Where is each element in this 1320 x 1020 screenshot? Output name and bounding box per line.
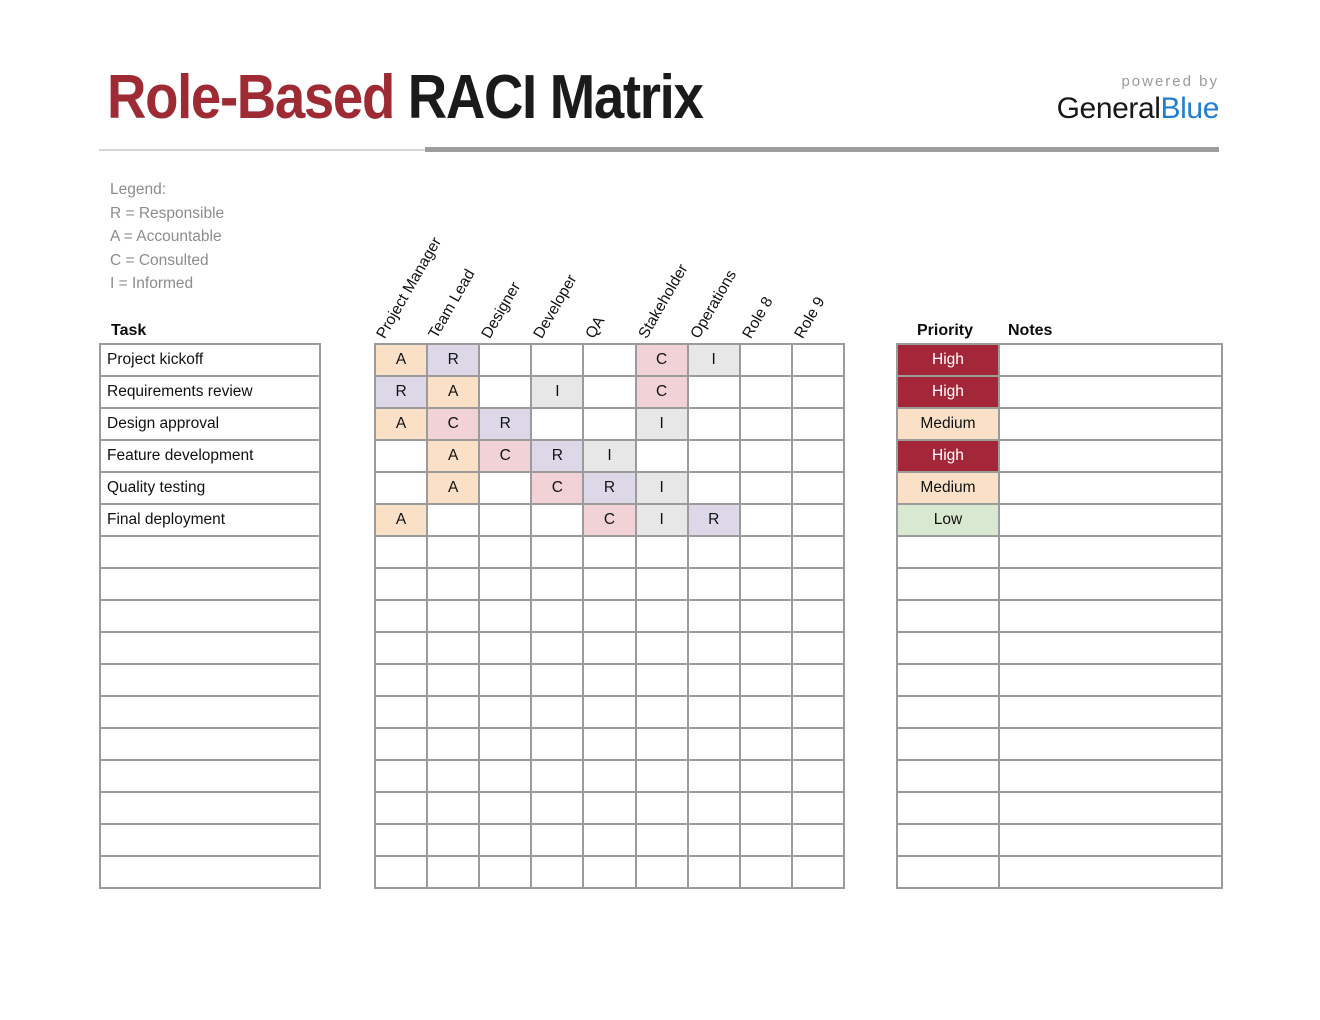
role-header-designer: Designer xyxy=(478,279,525,342)
table-row: Requirements review xyxy=(100,376,320,408)
raci-cell[interactable] xyxy=(531,696,583,728)
raci-cell[interactable] xyxy=(531,536,583,568)
raci-cell[interactable] xyxy=(688,760,740,792)
priority-cell[interactable] xyxy=(897,536,999,568)
raci-cell[interactable]: C xyxy=(636,376,688,408)
table-row: Medium xyxy=(897,472,1222,504)
raci-cell[interactable] xyxy=(479,760,531,792)
notes-cell[interactable] xyxy=(999,344,1222,376)
table-row xyxy=(375,664,844,696)
raci-cell[interactable] xyxy=(531,344,583,376)
raci-cell[interactable] xyxy=(636,536,688,568)
raci-cell[interactable] xyxy=(688,792,740,824)
table-row xyxy=(375,632,844,664)
raci-cell[interactable] xyxy=(427,792,479,824)
table-row xyxy=(897,696,1222,728)
priority-cell[interactable] xyxy=(897,632,999,664)
raci-cell[interactable] xyxy=(479,856,531,888)
table-row: Project kickoff xyxy=(100,344,320,376)
raci-matrix-table: ARCIRAICACRIACRIACRIACIR xyxy=(374,343,845,889)
priority-cell[interactable]: Medium xyxy=(897,408,999,440)
wordmark-general: General xyxy=(1057,92,1161,125)
raci-cell[interactable] xyxy=(740,856,792,888)
wordmark-blue: Blue xyxy=(1161,92,1219,125)
raci-cell[interactable] xyxy=(583,792,635,824)
raci-cell[interactable] xyxy=(740,344,792,376)
raci-cell[interactable] xyxy=(375,472,427,504)
raci-cell[interactable] xyxy=(636,760,688,792)
raci-cell[interactable] xyxy=(792,728,844,760)
raci-cell[interactable] xyxy=(792,760,844,792)
raci-cell[interactable] xyxy=(740,408,792,440)
raci-cell[interactable] xyxy=(740,504,792,536)
table-row xyxy=(897,568,1222,600)
raci-cell[interactable]: A xyxy=(427,376,479,408)
raci-cell[interactable] xyxy=(792,664,844,696)
page-title-accent: Role-Based xyxy=(107,63,394,132)
legend-item-consulted: C = Consulted xyxy=(110,249,224,273)
raci-cell[interactable] xyxy=(427,760,479,792)
raci-cell[interactable] xyxy=(427,504,479,536)
task-cell[interactable] xyxy=(100,824,320,856)
raci-cell[interactable] xyxy=(479,472,531,504)
raci-cell[interactable] xyxy=(375,824,427,856)
table-row: Low xyxy=(897,504,1222,536)
raci-cell[interactable] xyxy=(688,440,740,472)
table-row: High xyxy=(897,376,1222,408)
powered-by-label: powered by xyxy=(1057,74,1219,90)
raci-cell[interactable] xyxy=(531,760,583,792)
raci-cell[interactable]: A xyxy=(375,344,427,376)
raci-cell[interactable] xyxy=(740,824,792,856)
priority-cell[interactable] xyxy=(897,696,999,728)
table-row xyxy=(375,728,844,760)
raci-cell[interactable] xyxy=(740,568,792,600)
role-header-team-lead: Team Lead xyxy=(426,267,480,342)
raci-cell[interactable] xyxy=(740,376,792,408)
raci-cell[interactable] xyxy=(688,376,740,408)
raci-cell[interactable]: R xyxy=(479,408,531,440)
table-row: ACRI xyxy=(375,440,844,472)
raci-cell[interactable] xyxy=(636,696,688,728)
priority-cell[interactable] xyxy=(897,728,999,760)
raci-cell[interactable] xyxy=(636,664,688,696)
task-cell[interactable]: Requirements review xyxy=(100,376,320,408)
table-row xyxy=(375,600,844,632)
notes-cell[interactable] xyxy=(999,600,1222,632)
raci-cell[interactable] xyxy=(792,504,844,536)
task-cell[interactable] xyxy=(100,664,320,696)
raci-cell[interactable]: C xyxy=(427,408,479,440)
raci-cell[interactable] xyxy=(427,664,479,696)
raci-cell[interactable] xyxy=(792,568,844,600)
raci-cell[interactable]: I xyxy=(531,376,583,408)
priority-cell[interactable] xyxy=(897,824,999,856)
legend-item-accountable: A = Accountable xyxy=(110,225,224,249)
raci-cell[interactable]: C xyxy=(636,344,688,376)
task-table: Project kickoffRequirements reviewDesign… xyxy=(99,343,321,889)
raci-cell[interactable] xyxy=(375,696,427,728)
priority-cell[interactable] xyxy=(897,600,999,632)
raci-cell[interactable] xyxy=(479,504,531,536)
raci-cell[interactable]: R xyxy=(583,472,635,504)
table-row xyxy=(100,824,320,856)
raci-cell[interactable] xyxy=(427,632,479,664)
raci-cell[interactable] xyxy=(531,408,583,440)
table-row xyxy=(897,536,1222,568)
table-row: ACIR xyxy=(375,504,844,536)
raci-cell[interactable] xyxy=(636,568,688,600)
raci-cell[interactable] xyxy=(427,568,479,600)
priority-cell[interactable] xyxy=(897,760,999,792)
raci-cell[interactable] xyxy=(636,600,688,632)
raci-cell[interactable] xyxy=(479,376,531,408)
raci-cell[interactable] xyxy=(583,728,635,760)
raci-cell[interactable] xyxy=(583,344,635,376)
raci-cell[interactable] xyxy=(636,728,688,760)
task-cell[interactable]: Project kickoff xyxy=(100,344,320,376)
raci-cell[interactable] xyxy=(531,568,583,600)
raci-cell[interactable] xyxy=(740,696,792,728)
raci-cell[interactable] xyxy=(375,440,427,472)
table-row xyxy=(100,600,320,632)
table-row: Design approval xyxy=(100,408,320,440)
raci-cell[interactable] xyxy=(479,344,531,376)
table-row xyxy=(100,696,320,728)
raci-cell[interactable] xyxy=(740,472,792,504)
role-header-operations: Operations xyxy=(687,267,741,342)
raci-cell[interactable] xyxy=(792,440,844,472)
task-cell[interactable]: Design approval xyxy=(100,408,320,440)
notes-cell[interactable] xyxy=(999,536,1222,568)
raci-cell[interactable] xyxy=(688,632,740,664)
role-header-stakeholder: Stakeholder xyxy=(635,261,692,342)
raci-cell[interactable] xyxy=(427,856,479,888)
raci-cell[interactable] xyxy=(479,728,531,760)
raci-cell[interactable] xyxy=(531,632,583,664)
raci-cell[interactable] xyxy=(375,664,427,696)
priority-cell[interactable]: Low xyxy=(897,504,999,536)
raci-cell[interactable]: I xyxy=(583,440,635,472)
raci-cell[interactable] xyxy=(688,664,740,696)
table-row: ACRI xyxy=(375,408,844,440)
notes-cell[interactable] xyxy=(999,856,1222,888)
notes-cell[interactable] xyxy=(999,696,1222,728)
table-row xyxy=(375,696,844,728)
raci-cell[interactable]: R xyxy=(375,376,427,408)
generalblue-wordmark: GeneralBlue xyxy=(1057,93,1219,125)
raci-cell[interactable] xyxy=(479,536,531,568)
table-row xyxy=(100,568,320,600)
task-cell[interactable] xyxy=(100,696,320,728)
raci-cell[interactable] xyxy=(427,536,479,568)
notes-cell[interactable] xyxy=(999,792,1222,824)
raci-cell[interactable] xyxy=(375,792,427,824)
raci-cell[interactable] xyxy=(375,856,427,888)
table-row xyxy=(897,760,1222,792)
table-row xyxy=(897,824,1222,856)
raci-cell[interactable] xyxy=(531,824,583,856)
priority-cell[interactable]: High xyxy=(897,344,999,376)
legend: Legend: R = Responsible A = Accountable … xyxy=(110,178,224,296)
task-cell[interactable] xyxy=(100,760,320,792)
raci-cell[interactable] xyxy=(688,728,740,760)
table-row xyxy=(100,792,320,824)
header-divider-left xyxy=(99,149,425,151)
legend-item-responsible: R = Responsible xyxy=(110,202,224,226)
raci-cell[interactable] xyxy=(427,728,479,760)
raci-cell[interactable]: A xyxy=(375,504,427,536)
raci-cell[interactable] xyxy=(583,536,635,568)
raci-cell[interactable] xyxy=(479,632,531,664)
raci-cell[interactable]: I xyxy=(636,408,688,440)
raci-cell[interactable] xyxy=(583,760,635,792)
notes-cell[interactable] xyxy=(999,664,1222,696)
raci-cell[interactable] xyxy=(792,376,844,408)
raci-cell[interactable] xyxy=(375,568,427,600)
raci-cell[interactable] xyxy=(375,632,427,664)
raci-cell[interactable] xyxy=(531,664,583,696)
table-row: Quality testing xyxy=(100,472,320,504)
table-row xyxy=(897,792,1222,824)
notes-cell[interactable] xyxy=(999,408,1222,440)
table-row: High xyxy=(897,440,1222,472)
priority-cell[interactable] xyxy=(897,792,999,824)
task-cell[interactable]: Quality testing xyxy=(100,472,320,504)
raci-cell[interactable] xyxy=(740,760,792,792)
raci-cell[interactable] xyxy=(636,440,688,472)
table-row xyxy=(375,760,844,792)
raci-cell[interactable] xyxy=(636,632,688,664)
raci-cell[interactable] xyxy=(375,728,427,760)
raci-cell[interactable] xyxy=(583,664,635,696)
raci-cell[interactable]: R xyxy=(688,504,740,536)
table-row: Feature development xyxy=(100,440,320,472)
raci-cell[interactable] xyxy=(792,792,844,824)
raci-cell[interactable] xyxy=(583,568,635,600)
raci-cell[interactable] xyxy=(479,824,531,856)
priority-column-header: Priority xyxy=(917,322,973,340)
table-row: Medium xyxy=(897,408,1222,440)
table-row xyxy=(897,664,1222,696)
page-title-plain: RACI Matrix xyxy=(408,63,703,132)
raci-cell[interactable] xyxy=(792,408,844,440)
table-row xyxy=(375,824,844,856)
raci-cell[interactable] xyxy=(583,632,635,664)
notes-cell[interactable] xyxy=(999,728,1222,760)
raci-cell[interactable] xyxy=(375,600,427,632)
raci-cell[interactable]: C xyxy=(479,440,531,472)
table-row xyxy=(375,792,844,824)
raci-cell[interactable] xyxy=(688,472,740,504)
raci-cell[interactable] xyxy=(792,696,844,728)
task-column-header: Task xyxy=(111,322,146,340)
raci-cell[interactable] xyxy=(792,472,844,504)
raci-cell[interactable] xyxy=(583,696,635,728)
page-header: Role-Based RACI Matrix powered by Genera… xyxy=(99,62,1219,152)
priority-cell[interactable]: Medium xyxy=(897,472,999,504)
raci-cell[interactable] xyxy=(479,696,531,728)
raci-cell[interactable] xyxy=(636,792,688,824)
raci-cell[interactable] xyxy=(531,856,583,888)
notes-cell[interactable] xyxy=(999,440,1222,472)
table-row xyxy=(897,728,1222,760)
raci-cell[interactable] xyxy=(740,664,792,696)
raci-cell[interactable] xyxy=(479,568,531,600)
notes-cell[interactable] xyxy=(999,824,1222,856)
raci-cell[interactable] xyxy=(792,856,844,888)
raci-cell[interactable] xyxy=(479,792,531,824)
raci-cell[interactable]: I xyxy=(636,504,688,536)
raci-cell[interactable] xyxy=(636,824,688,856)
raci-cell[interactable] xyxy=(375,760,427,792)
raci-cell[interactable] xyxy=(636,856,688,888)
table-row xyxy=(897,632,1222,664)
raci-cell[interactable] xyxy=(740,600,792,632)
raci-cell[interactable] xyxy=(427,824,479,856)
raci-cell[interactable] xyxy=(792,536,844,568)
task-cell[interactable] xyxy=(100,792,320,824)
table-row xyxy=(375,536,844,568)
task-cell[interactable] xyxy=(100,728,320,760)
legend-heading: Legend: xyxy=(110,178,224,202)
table-row: ACRI xyxy=(375,472,844,504)
raci-cell[interactable] xyxy=(792,600,844,632)
raci-cell[interactable]: I xyxy=(636,472,688,504)
raci-cell[interactable] xyxy=(688,696,740,728)
raci-cell[interactable]: R xyxy=(427,344,479,376)
table-row xyxy=(100,664,320,696)
brand-logo: powered by GeneralBlue xyxy=(1057,74,1219,124)
priority-cell[interactable] xyxy=(897,664,999,696)
priority-notes-table: HighHighMediumHighMediumLow xyxy=(896,343,1223,889)
raci-cell[interactable] xyxy=(688,568,740,600)
raci-cell[interactable]: C xyxy=(531,472,583,504)
table-row: Final deployment xyxy=(100,504,320,536)
raci-cell[interactable] xyxy=(583,376,635,408)
table-row xyxy=(897,600,1222,632)
priority-cell[interactable] xyxy=(897,568,999,600)
raci-cell[interactable]: A xyxy=(427,440,479,472)
raci-cell[interactable]: C xyxy=(583,504,635,536)
raci-cell[interactable] xyxy=(688,600,740,632)
raci-cell[interactable] xyxy=(531,728,583,760)
raci-cell[interactable] xyxy=(427,696,479,728)
role-header-role-8: Role 8 xyxy=(740,294,778,342)
page-title: Role-Based RACI Matrix xyxy=(107,62,703,133)
raci-cell[interactable] xyxy=(740,536,792,568)
priority-cell[interactable] xyxy=(897,856,999,888)
table-row xyxy=(375,568,844,600)
table-row xyxy=(100,536,320,568)
notes-cell[interactable] xyxy=(999,472,1222,504)
notes-cell[interactable] xyxy=(999,376,1222,408)
notes-cell[interactable] xyxy=(999,504,1222,536)
task-cell[interactable] xyxy=(100,568,320,600)
table-row xyxy=(100,632,320,664)
task-cell[interactable] xyxy=(100,600,320,632)
table-row: RAIC xyxy=(375,376,844,408)
task-cell[interactable] xyxy=(100,536,320,568)
notes-cell[interactable] xyxy=(999,760,1222,792)
raci-cell[interactable] xyxy=(531,600,583,632)
raci-cell[interactable] xyxy=(583,824,635,856)
raci-cell[interactable]: I xyxy=(688,344,740,376)
task-cell[interactable] xyxy=(100,632,320,664)
raci-cell[interactable] xyxy=(688,824,740,856)
raci-cell[interactable] xyxy=(792,344,844,376)
raci-cell[interactable] xyxy=(479,664,531,696)
raci-cell[interactable] xyxy=(688,536,740,568)
table-row: ARCI xyxy=(375,344,844,376)
notes-cell[interactable] xyxy=(999,568,1222,600)
raci-cell[interactable] xyxy=(792,824,844,856)
raci-cell[interactable]: A xyxy=(427,472,479,504)
priority-cell[interactable]: High xyxy=(897,440,999,472)
raci-cell[interactable]: A xyxy=(375,408,427,440)
raci-cell[interactable] xyxy=(531,792,583,824)
legend-item-informed: I = Informed xyxy=(110,272,224,296)
raci-cell[interactable] xyxy=(479,600,531,632)
header-divider-right xyxy=(425,147,1219,152)
priority-cell[interactable]: High xyxy=(897,376,999,408)
role-header-role-9: Role 9 xyxy=(792,294,830,342)
task-cell[interactable]: Feature development xyxy=(100,440,320,472)
role-column-headers: Project ManagerTeam LeadDesignerDevelope… xyxy=(375,210,855,342)
raci-cell[interactable] xyxy=(427,600,479,632)
raci-cell[interactable] xyxy=(375,536,427,568)
table-row: High xyxy=(897,344,1222,376)
raci-cell[interactable] xyxy=(740,440,792,472)
raci-cell[interactable] xyxy=(740,728,792,760)
notes-column-header: Notes xyxy=(1008,322,1052,340)
task-cell[interactable]: Final deployment xyxy=(100,504,320,536)
role-header-developer: Developer xyxy=(530,272,581,342)
table-row xyxy=(100,728,320,760)
raci-cell[interactable] xyxy=(583,600,635,632)
table-row xyxy=(100,856,320,888)
raci-cell[interactable] xyxy=(688,408,740,440)
table-row xyxy=(897,856,1222,888)
raci-cell[interactable]: R xyxy=(531,440,583,472)
raci-cell[interactable] xyxy=(740,792,792,824)
table-row xyxy=(100,760,320,792)
notes-cell[interactable] xyxy=(999,632,1222,664)
raci-cell[interactable] xyxy=(740,632,792,664)
raci-cell[interactable] xyxy=(792,632,844,664)
table-row xyxy=(375,856,844,888)
raci-cell[interactable] xyxy=(531,504,583,536)
raci-cell[interactable] xyxy=(583,408,635,440)
raci-cell[interactable] xyxy=(583,856,635,888)
task-cell[interactable] xyxy=(100,856,320,888)
raci-cell[interactable] xyxy=(688,856,740,888)
role-header-qa: QA xyxy=(583,314,610,342)
